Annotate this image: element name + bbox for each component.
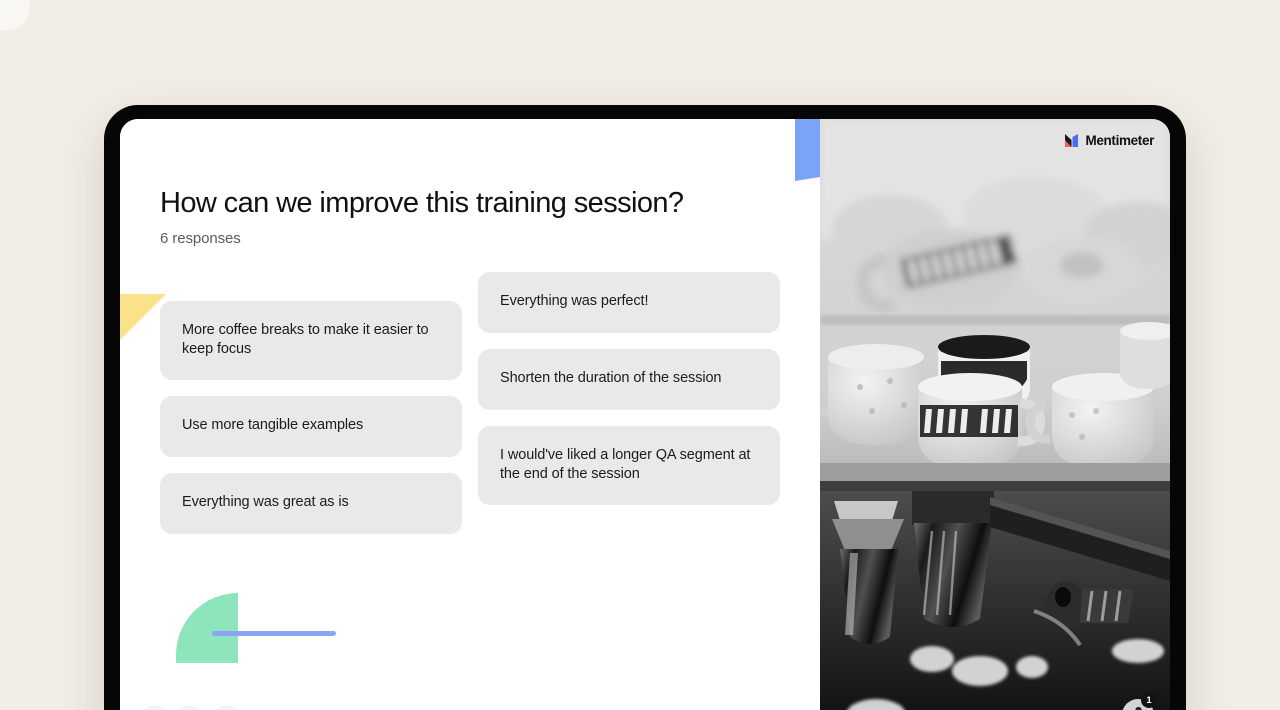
participant-count-badge: 1 (1141, 692, 1157, 708)
coffee-cups-photo (820, 119, 1170, 710)
page-corner-decoration (0, 0, 30, 30)
mentimeter-logo: Mentimeter (1064, 133, 1154, 148)
next-slide-button[interactable] (212, 705, 240, 710)
slide-body: How can we improve this training session… (120, 119, 820, 534)
response-card[interactable]: Shorten the duration of the session (478, 349, 780, 410)
participant-counter[interactable]: 1 (1122, 699, 1154, 710)
previous-slide-button[interactable] (140, 705, 168, 710)
response-column-right: Everything was perfect! Shorten the dura… (478, 272, 780, 534)
page-title: How can we improve this training session… (160, 187, 780, 221)
response-card[interactable]: I would've liked a longer QA segment at … (478, 426, 780, 505)
response-column-left: More coffee breaks to make it easier to … (160, 301, 462, 534)
response-count-label: 6 responses (160, 230, 780, 247)
device-screen: How can we improve this training session… (120, 119, 1170, 710)
response-card[interactable]: Use more tangible examples (160, 396, 462, 457)
response-card[interactable]: Everything was perfect! (478, 272, 780, 333)
response-card[interactable]: Everything was great as is (160, 473, 462, 534)
mentimeter-logo-mark (1064, 133, 1079, 148)
hint-button[interactable] (176, 705, 204, 710)
response-card[interactable]: More coffee breaks to make it easier to … (160, 301, 462, 380)
responses-grid: More coffee breaks to make it easier to … (160, 301, 780, 534)
slide-toolbar (140, 705, 240, 710)
photo-panel: Mentimeter 1 (820, 119, 1170, 710)
mentimeter-logo-text: Mentimeter (1085, 133, 1154, 148)
blue-line-shape (212, 631, 336, 636)
mint-quarter-circle-shape (176, 593, 238, 663)
slide-panel: How can we improve this training session… (120, 119, 820, 710)
